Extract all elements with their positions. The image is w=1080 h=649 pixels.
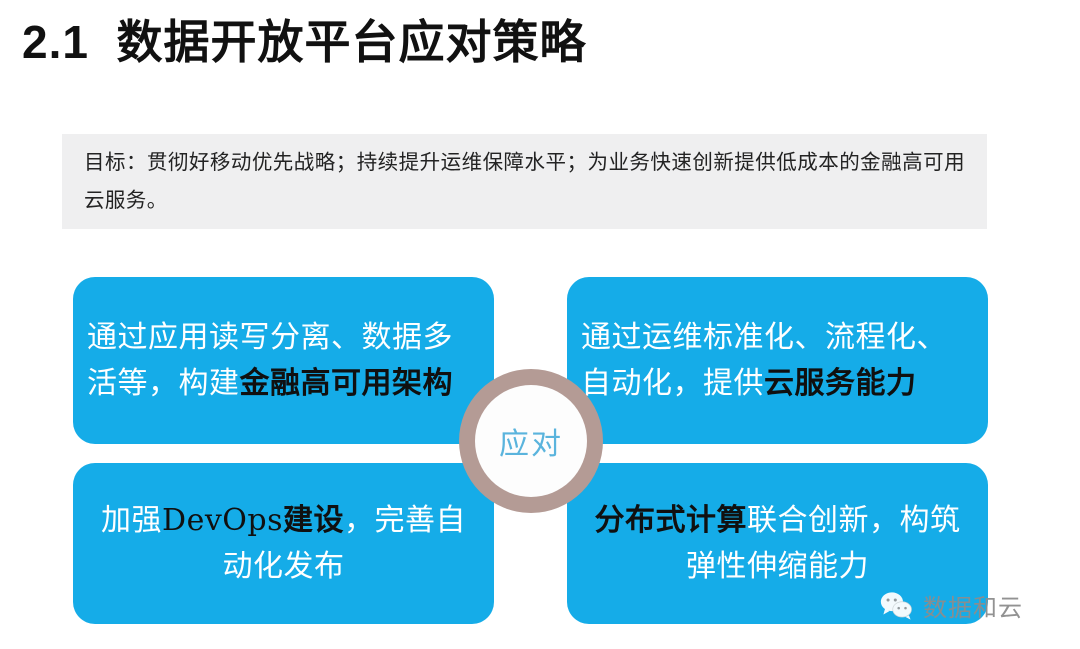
card-bl-normal-1: 加强	[101, 504, 162, 537]
watermark: 数据和云	[880, 588, 1023, 623]
strategy-diagram: 通过应用读写分离、数据多活等，构建金融高可用架构 通过运维标准化、流程化、自动化…	[0, 0, 1080, 649]
card-bl-latin: DevOps	[162, 503, 283, 538]
strategy-card-top-right[interactable]: 通过运维标准化、流程化、自动化，提供云服务能力	[567, 277, 988, 444]
center-hub-label: 应对	[499, 419, 563, 463]
strategy-card-top-left[interactable]: 通过应用读写分离、数据多活等，构建金融高可用架构	[73, 277, 494, 444]
card-br-emphasis: 分布式计算	[595, 504, 748, 537]
strategy-card-bottom-right-text: 分布式计算联合创新，构筑弹性伸缩能力	[581, 498, 974, 590]
center-hub-inner: 应对	[475, 385, 587, 497]
strategy-card-bottom-left-text: 加强DevOps建设，完善自动化发布	[87, 498, 480, 590]
wechat-icon	[880, 591, 914, 621]
strategy-card-bottom-left[interactable]: 加强DevOps建设，完善自动化发布	[73, 463, 494, 624]
card-bl-emphasis: 建设	[283, 504, 344, 537]
strategy-card-top-right-text: 通过运维标准化、流程化、自动化，提供云服务能力	[581, 315, 974, 407]
watermark-label: 数据和云	[923, 588, 1023, 623]
card-tr-emphasis: 云服务能力	[764, 367, 917, 400]
strategy-card-top-left-text: 通过应用读写分离、数据多活等，构建金融高可用架构	[87, 315, 480, 407]
center-hub: 应对	[459, 369, 603, 513]
card-tl-emphasis: 金融高可用架构	[240, 367, 454, 400]
